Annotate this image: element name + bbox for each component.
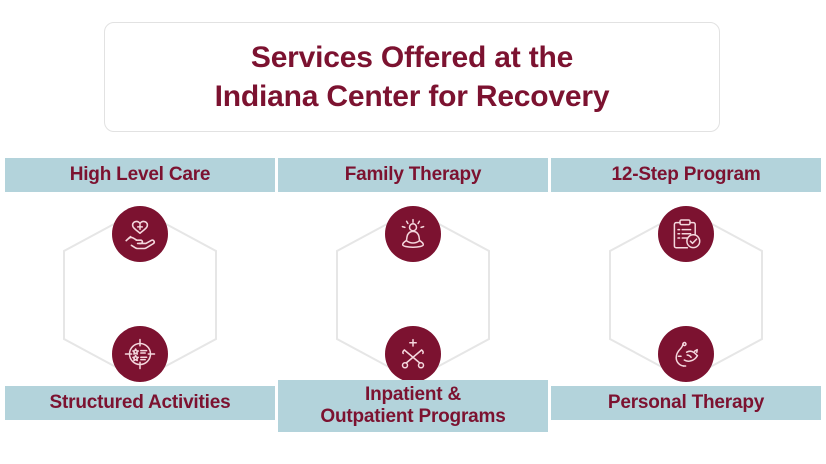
page-title-line-1: Services Offered at the [251, 38, 573, 77]
column-bottom-label-personal-therapy: Personal Therapy [551, 386, 821, 420]
title-card: Services Offered at the Indiana Center f… [104, 22, 720, 132]
column-top-label-high-level-care: High Level Care [5, 158, 275, 192]
crossed-surgical-scissors-icon [385, 326, 441, 382]
column-bottom-label-inpatient-outpatient-programs: Inpatient & Outpatient Programs [278, 380, 548, 432]
column-top-label-family-therapy: Family Therapy [278, 158, 548, 192]
clipboard-checklist-check-icon [658, 206, 714, 262]
head-profile-with-dove-icon [658, 326, 714, 382]
bottom-label-line-1: Inpatient & [320, 384, 505, 406]
target-checklist-stars-icon [112, 326, 168, 382]
service-column-high-level-care: High Level Care [5, 158, 275, 448]
hand-holding-heart-with-medical-cross-icon [112, 206, 168, 262]
service-columns: High Level Care [0, 158, 826, 448]
service-column-family-therapy: Family Therapy [278, 158, 548, 448]
meditating-person-icon [385, 206, 441, 262]
column-bottom-label-structured-activities: Structured Activities [5, 386, 275, 420]
page-title-line-2: Indiana Center for Recovery [215, 77, 610, 116]
column-top-label-12-step-program: 12-Step Program [551, 158, 821, 192]
infographic-root: Services Offered at the Indiana Center f… [0, 0, 826, 464]
service-column-12-step-program: 12-Step Program [551, 158, 821, 448]
bottom-label-line-2: Outpatient Programs [320, 406, 505, 428]
